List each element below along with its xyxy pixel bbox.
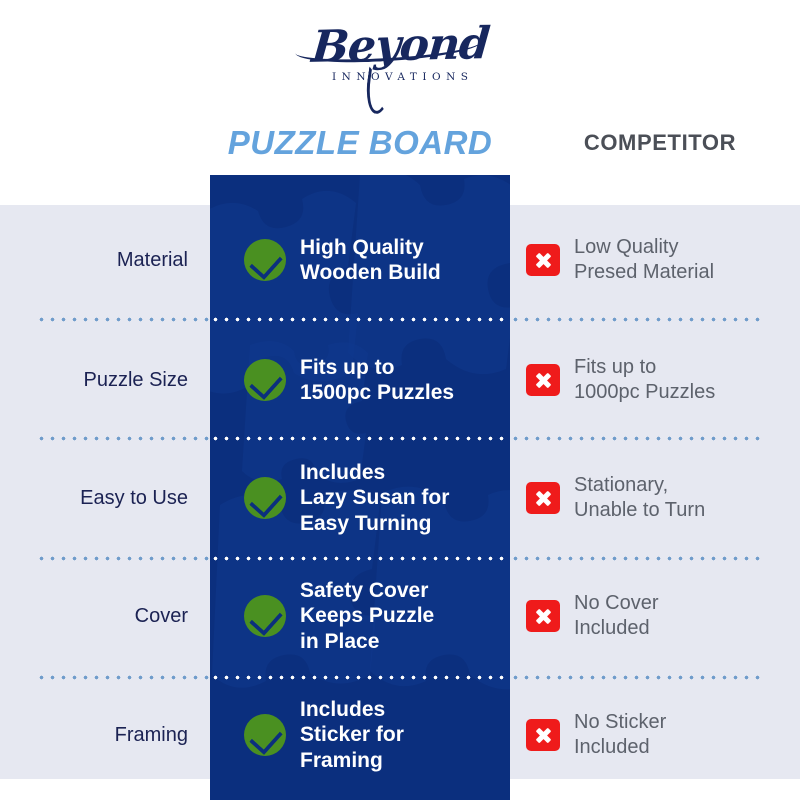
competitor-cell: Low Quality Presed Material	[510, 235, 800, 285]
row-divider	[36, 556, 210, 561]
row-divider	[210, 317, 510, 322]
product-cell: Includes Sticker for Framing	[210, 697, 510, 773]
competitor-value: Low Quality Presed Material	[574, 235, 714, 285]
feature-label: Puzzle Size	[0, 368, 210, 393]
product-value: Fits up to 1500pc Puzzles	[300, 355, 454, 405]
comparison-infographic: Beyond INNOVATIONS PUZZLE BOARD COMPETIT…	[0, 0, 800, 800]
table-row: Material High Quality Wooden Build Low Q…	[0, 228, 800, 292]
row-divider	[510, 556, 764, 561]
row-divider	[36, 436, 210, 441]
brand-logo: Beyond INNOVATIONS	[0, 24, 800, 83]
competitor-cell: Stationary, Unable to Turn	[510, 473, 800, 523]
product-cell: Safety Cover Keeps Puzzle in Place	[210, 578, 510, 654]
table-row: Puzzle Size Fits up to 1500pc Puzzles Fi…	[0, 348, 800, 412]
product-cell: Includes Lazy Susan for Easy Turning	[210, 460, 510, 536]
check-circle-icon	[244, 359, 286, 401]
competitor-value: Fits up to 1000pc Puzzles	[574, 355, 715, 405]
competitor-value: No Cover Included	[574, 591, 658, 641]
x-square-icon	[526, 482, 560, 514]
row-divider	[510, 317, 764, 322]
product-value: Safety Cover Keeps Puzzle in Place	[300, 578, 434, 654]
x-square-icon	[526, 244, 560, 276]
feature-label: Cover	[0, 604, 210, 629]
competitor-value: Stationary, Unable to Turn	[574, 473, 705, 523]
competitor-value: No Sticker Included	[574, 710, 666, 760]
competitor-column-heading: COMPETITOR	[520, 130, 800, 156]
table-row: Framing Includes Sticker for Framing No …	[0, 692, 800, 778]
row-divider	[510, 436, 764, 441]
competitor-cell: No Cover Included	[510, 591, 800, 641]
check-circle-icon	[244, 714, 286, 756]
row-divider	[210, 556, 510, 561]
feature-label: Material	[0, 248, 210, 273]
x-square-icon	[526, 719, 560, 751]
x-square-icon	[526, 364, 560, 396]
feature-label: Framing	[0, 723, 210, 748]
table-row: Easy to Use Includes Lazy Susan for Easy…	[0, 455, 800, 541]
product-value: High Quality Wooden Build	[300, 235, 441, 285]
product-column-heading: PUZZLE BOARD	[204, 124, 516, 162]
product-value: Includes Sticker for Framing	[300, 697, 404, 773]
feature-label: Easy to Use	[0, 486, 210, 511]
check-circle-icon	[244, 477, 286, 519]
brand-tagline: INNOVATIONS	[0, 72, 800, 83]
row-divider	[36, 675, 210, 680]
brand-name: Beyond	[310, 22, 491, 70]
row-divider	[36, 317, 210, 322]
table-row: Cover Safety Cover Keeps Puzzle in Place…	[0, 573, 800, 659]
check-circle-icon	[244, 595, 286, 637]
product-cell: High Quality Wooden Build	[210, 235, 510, 285]
product-cell: Fits up to 1500pc Puzzles	[210, 355, 510, 405]
row-divider	[510, 675, 764, 680]
row-divider	[210, 675, 510, 680]
x-square-icon	[526, 600, 560, 632]
competitor-cell: No Sticker Included	[510, 710, 800, 760]
check-circle-icon	[244, 239, 286, 281]
competitor-cell: Fits up to 1000pc Puzzles	[510, 355, 800, 405]
row-divider	[210, 436, 510, 441]
product-value: Includes Lazy Susan for Easy Turning	[300, 460, 449, 536]
